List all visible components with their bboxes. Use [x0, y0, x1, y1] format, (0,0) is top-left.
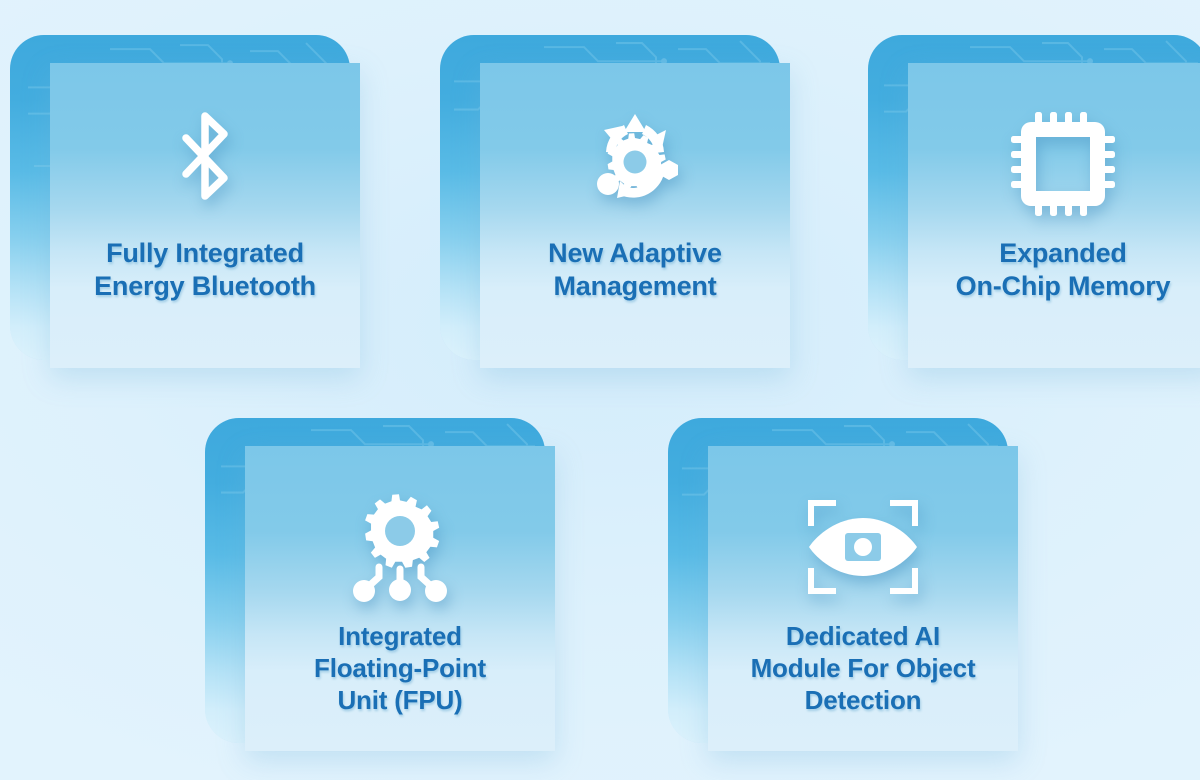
bluetooth-icon	[166, 105, 244, 223]
card-front-panel: Expanded On-Chip Memory	[908, 63, 1200, 368]
card-front-panel: Fully Integrated Energy Bluetooth	[50, 63, 360, 368]
card-title: Expanded On-Chip Memory	[942, 237, 1185, 304]
card-title: New Adaptive Management	[534, 237, 736, 304]
card-front-panel: New Adaptive Management	[480, 63, 790, 368]
gear-nodes-icon	[346, 488, 454, 606]
card-title: Dedicated AI Module For Object Detection	[737, 620, 990, 717]
eye-chip-scan-icon	[801, 488, 925, 606]
infographic-canvas: Fully Integrated Energy Bluetooth	[0, 0, 1200, 780]
chip-icon	[1007, 105, 1119, 223]
card-title: Integrated Floating-Point Unit (FPU)	[300, 620, 500, 717]
card-title: Fully Integrated Energy Bluetooth	[80, 237, 330, 304]
card-front-panel: Integrated Floating-Point Unit (FPU)	[245, 446, 555, 751]
adaptive-management-gear-cycle-icon	[576, 105, 694, 223]
card-front-panel: Dedicated AI Module For Object Detection	[708, 446, 1018, 751]
